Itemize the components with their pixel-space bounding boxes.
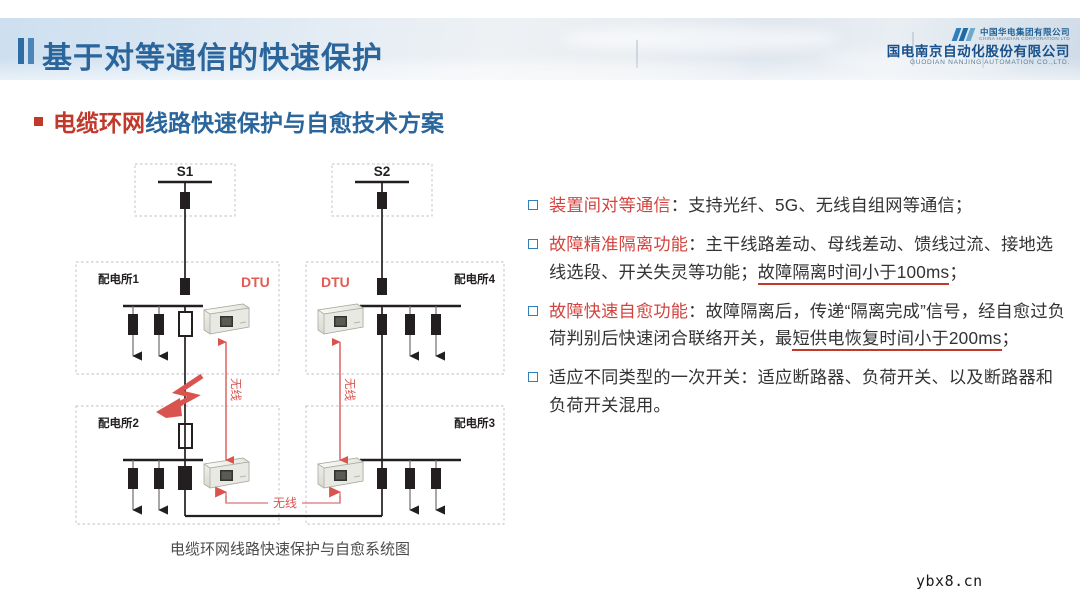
bullet-body: 适应不同类型的一次开关：适应断路器、负荷开关、以及断路器和负荷开关混用。 (549, 367, 1053, 415)
device-label-dtu-1: DTU (241, 274, 270, 290)
banner-haze-decoration (560, 26, 840, 52)
banner-haze-decoration (330, 60, 750, 78)
substation-label-4: 配电所4 (454, 272, 495, 286)
hollow-square-bullet-icon (528, 306, 538, 316)
substation-label-2: 配电所2 (98, 416, 139, 430)
dtu-rack-icon (318, 304, 363, 334)
feature-bullet-list: 装置间对等通信：支持光纤、5G、无线自组网等通信； 故障精准隔离功能：主干线路差… (528, 192, 1068, 431)
network-topology-diagram: S1 S2 配电所1 配电所4 配电所2 配电所3 DTU DTU 无线 无线 … (70, 160, 510, 550)
bullet-lead: 故障精准隔离功能 (549, 234, 688, 254)
logo-company-name-cn: 国电南京自动化股份有限公司 (854, 45, 1070, 59)
hollow-square-bullet-icon (528, 239, 538, 249)
slide-canvas: 基于对等通信的快速保护 中国华电集团有限公司 CHINA HUADIAN COR… (0, 0, 1080, 608)
hollow-square-bullet-icon (528, 372, 538, 382)
list-item: 故障精准隔离功能：主干线路差动、母线差动、馈线过流、接地选线选段、开关失灵等功能… (528, 231, 1068, 287)
lightning-fault-icon (156, 376, 202, 418)
bullet-emphasis: 短供电恢复时间小于200ms (792, 328, 1001, 351)
logo-group-row: 中国华电集团有限公司 CHINA HUADIAN CORPORATION LTD (854, 28, 1070, 42)
bullet-lead: 故障快速自愈功能 (549, 301, 688, 321)
square-bullet-icon (34, 117, 43, 126)
dtu-rack-icon (204, 458, 249, 488)
subheading-red-part: 电缆环网 (53, 110, 145, 136)
bullet-content: 故障快速自愈功能：故障隔离后，传递“隔离完成”信号，经自愈过负荷判别后快速闭合联… (549, 298, 1068, 354)
link-label-wireless-bottom: 无线 (273, 496, 297, 510)
list-item: 装置间对等通信：支持光纤、5G、无线自组网等通信； (528, 192, 1068, 220)
link-label-wireless-right: 无线 (343, 378, 357, 401)
topology-svg: S1 S2 配电所1 配电所4 配电所2 配电所3 DTU DTU 无线 无线 … (70, 160, 510, 550)
device-label-dtu-4: DTU (321, 274, 350, 290)
logo-group-name-en: CHINA HUADIAN CORPORATION LTD (979, 37, 1070, 42)
page-title: 基于对等通信的快速保护 (42, 33, 383, 77)
dtu-rack-icon (204, 304, 249, 334)
bullet-content: 装置间对等通信：支持光纤、5G、无线自组网等通信； (549, 192, 972, 220)
list-item: 适应不同类型的一次开关：适应断路器、负荷开关、以及断路器和负荷开关混用。 (528, 364, 1068, 420)
bullet-tail: ； (949, 262, 966, 282)
corporate-logo: 中国华电集团有限公司 CHINA HUADIAN CORPORATION LTD… (854, 28, 1070, 67)
list-item: 故障快速自愈功能：故障隔离后，传递“隔离完成”信号，经自愈过负荷判别后快速闭合联… (528, 298, 1068, 354)
double-bar-icon (18, 38, 35, 64)
watermark: ybx8.cn (916, 572, 983, 590)
bullet-body: ：支持光纤、5G、无线自组网等通信； (671, 195, 973, 215)
dtu-rack-icon (318, 458, 363, 488)
section-subheading-text: 电缆环网线路快速保护与自愈技术方案 (53, 104, 444, 138)
substation-label-3: 配电所3 (454, 416, 495, 430)
link-label-wireless-left: 无线 (229, 378, 243, 401)
subheading-blue-part: 线路快速保护与自愈技术方案 (145, 110, 444, 136)
source-label-s2: S2 (374, 164, 391, 179)
bullet-content: 适应不同类型的一次开关：适应断路器、负荷开关、以及断路器和负荷开关混用。 (549, 364, 1068, 420)
hollow-square-bullet-icon (528, 200, 538, 210)
diagram-caption: 电缆环网线路快速保护与自愈系统图 (70, 538, 510, 559)
huadian-mark-icon (953, 28, 974, 41)
section-subheading: 电缆环网线路快速保护与自愈技术方案 (34, 104, 444, 138)
logo-company-name-en: GUODIAN NANJING AUTOMATION CO.,LTD. (854, 60, 1070, 67)
bullet-tail: ； (1002, 328, 1019, 348)
bullet-content: 故障精准隔离功能：主干线路差动、母线差动、馈线过流、接地选线选段、开关失灵等功能… (549, 231, 1068, 287)
source-label-s1: S1 (177, 164, 194, 179)
substation-label-1: 配电所1 (98, 272, 139, 286)
bullet-emphasis: 故障隔离时间小于100ms (758, 262, 950, 285)
banner-tower-decoration (636, 40, 638, 68)
bullet-lead: 装置间对等通信 (549, 195, 671, 215)
